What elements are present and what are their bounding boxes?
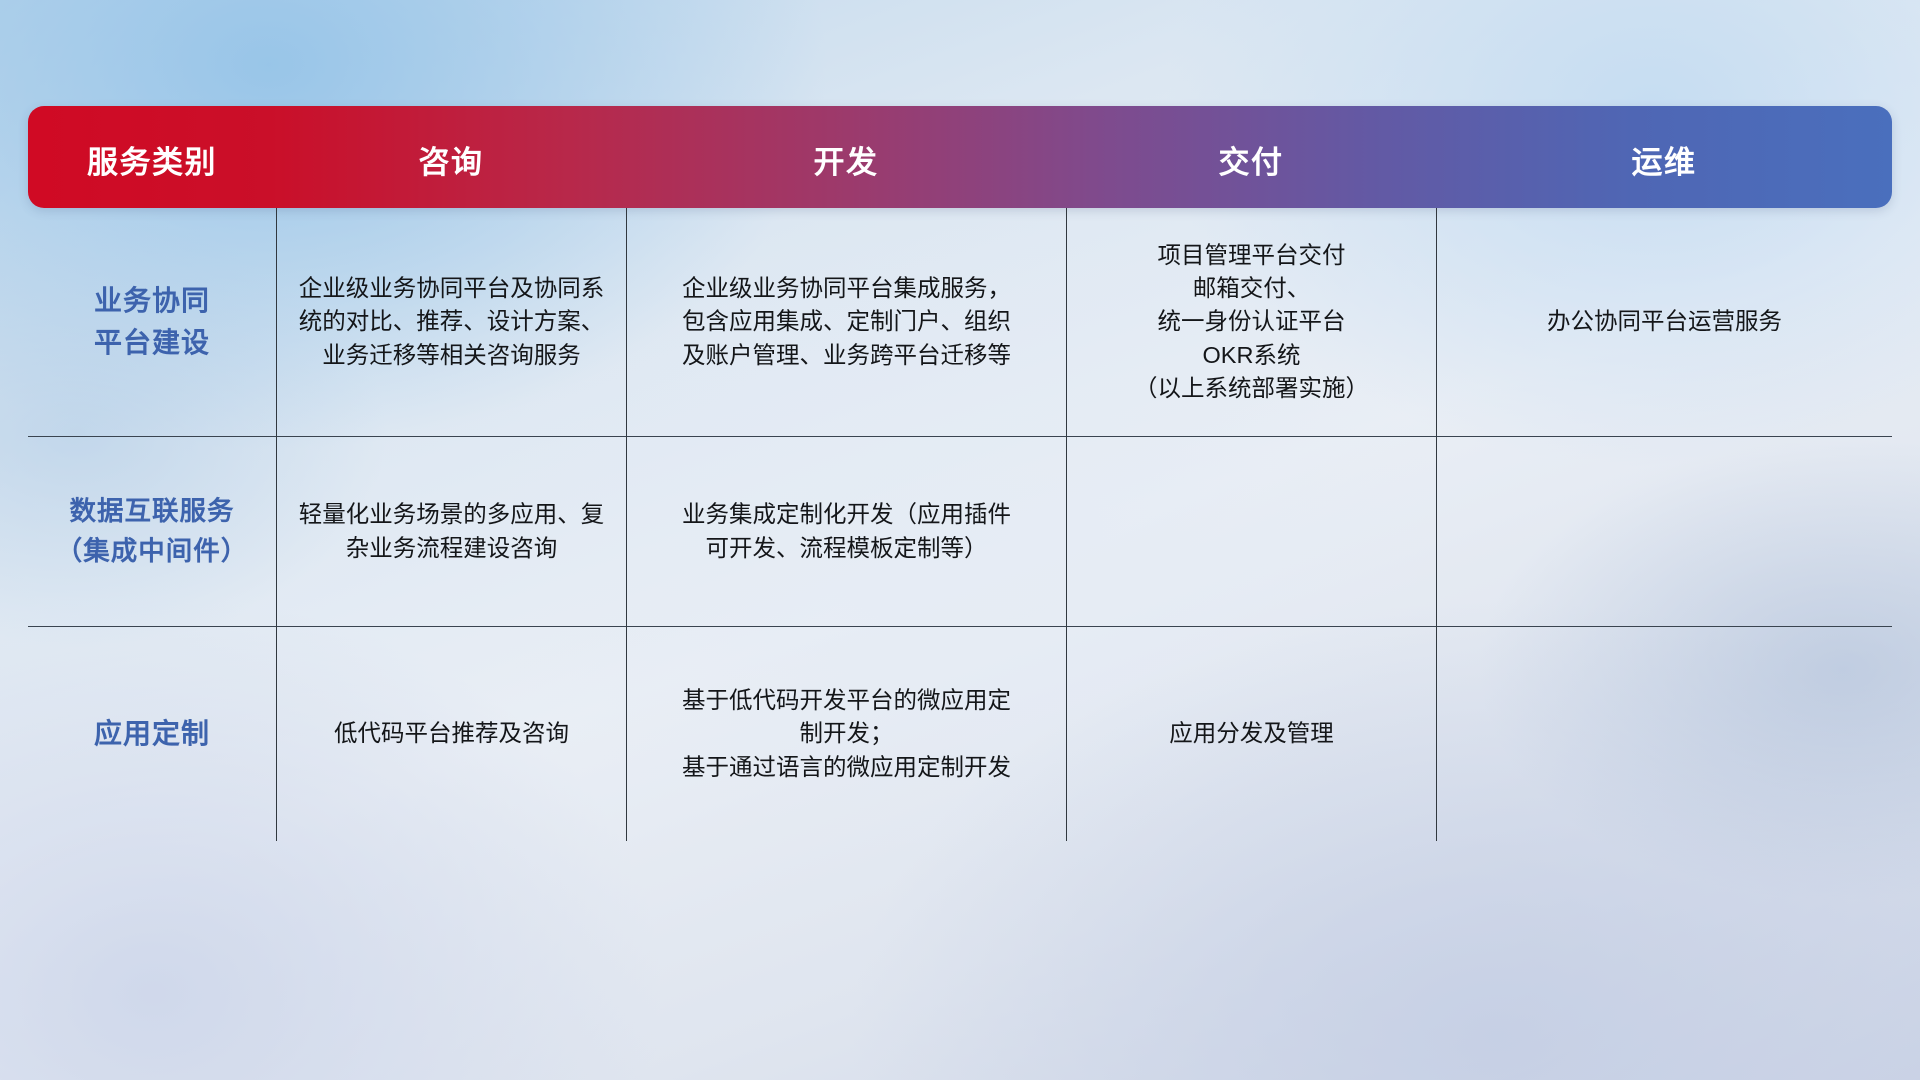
table-row: 应用定制 低代码平台推荐及咨询 基于低代码开发平台的微应用定 制开发； 基于通过…	[28, 626, 1892, 841]
table-row: 业务协同 平台建设 企业级业务协同平台及协同系 统的对比、推荐、设计方案、 业务…	[28, 208, 1892, 436]
cell-development: 企业级业务协同平台集成服务， 包含应用集成、定制门户、组织 及账户管理、业务跨平…	[626, 208, 1066, 436]
cell-consulting: 轻量化业务场景的多应用、复 杂业务流程建设咨询	[276, 436, 626, 626]
column-header-consulting: 咨询	[276, 106, 626, 208]
cell-consulting: 低代码平台推荐及咨询	[276, 626, 626, 841]
cell-operations: 办公协同平台运营服务	[1436, 208, 1892, 436]
row-category-label: 数据互联服务 （集成中间件）	[28, 436, 276, 626]
cell-delivery	[1066, 436, 1436, 626]
column-header-category: 服务类别	[28, 106, 276, 208]
row-category-label: 应用定制	[28, 626, 276, 841]
column-header-delivery: 交付	[1066, 106, 1436, 208]
column-header-operations: 运维	[1436, 106, 1892, 208]
table-body: 业务协同 平台建设 企业级业务协同平台及协同系 统的对比、推荐、设计方案、 业务…	[28, 208, 1892, 841]
cell-delivery: 应用分发及管理	[1066, 626, 1436, 841]
cell-operations	[1436, 436, 1892, 626]
cell-development: 基于低代码开发平台的微应用定 制开发； 基于通过语言的微应用定制开发	[626, 626, 1066, 841]
service-matrix-table: 服务类别 咨询 开发 交付 运维 业务协同 平台建设 企业级业务协同平台及协同系…	[28, 106, 1892, 841]
table-row: 数据互联服务 （集成中间件） 轻量化业务场景的多应用、复 杂业务流程建设咨询 业…	[28, 436, 1892, 626]
cell-delivery: 项目管理平台交付 邮箱交付、 统一身份认证平台 OKR系统 （以上系统部署实施）	[1066, 208, 1436, 436]
table-header-row: 服务类别 咨询 开发 交付 运维	[28, 106, 1892, 208]
row-category-label: 业务协同 平台建设	[28, 208, 276, 436]
cell-consulting: 企业级业务协同平台及协同系 统的对比、推荐、设计方案、 业务迁移等相关咨询服务	[276, 208, 626, 436]
column-header-development: 开发	[626, 106, 1066, 208]
cell-development: 业务集成定制化开发（应用插件 可开发、流程模板定制等）	[626, 436, 1066, 626]
cell-operations	[1436, 626, 1892, 841]
